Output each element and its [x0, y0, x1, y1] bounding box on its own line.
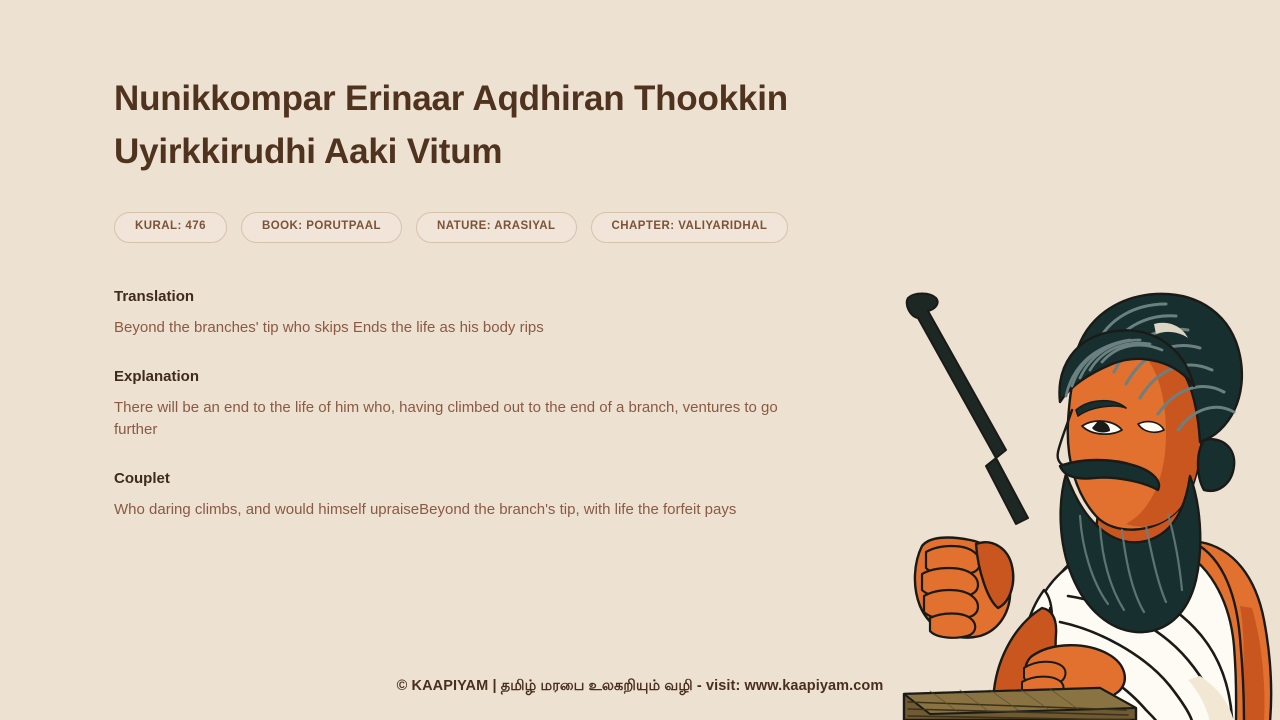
couplet-heading: Couplet	[114, 471, 874, 486]
section-explanation: Explanation There will be an end to the …	[114, 369, 874, 441]
ear	[1184, 419, 1209, 470]
kural-content: Nunikkompar Erinaar Aqdhiran Thookkin Uy…	[114, 72, 874, 522]
footer-credit: © KAAPIYAM | தமிழ் மரபை உலகறியும் வழி - …	[0, 678, 1280, 696]
badge-chapter[interactable]: CHAPTER: VALIYARIDHAL	[591, 212, 789, 243]
hair-front	[1059, 330, 1194, 402]
hair-bun	[1076, 294, 1242, 442]
section-couplet: Couplet Who daring climbs, and would him…	[114, 471, 874, 521]
thumb	[976, 542, 1013, 608]
badge-kural[interactable]: KURAL: 476	[114, 212, 227, 243]
translation-text: Beyond the branches' tip who skips Ends …	[114, 317, 824, 339]
section-translation: Translation Beyond the branches' tip who…	[114, 289, 874, 339]
explanation-text: There will be an end to the life of him …	[114, 397, 824, 441]
face	[1068, 350, 1200, 530]
hair-knot	[1198, 439, 1234, 491]
metadata-badge-row: KURAL: 476 BOOK: PORUTPAAL NATURE: ARASI…	[114, 212, 874, 243]
badge-nature[interactable]: NATURE: ARASIYAL	[416, 212, 577, 243]
moustache	[1060, 460, 1159, 490]
neck	[1096, 468, 1180, 564]
page-title: Nunikkompar Erinaar Aqdhiran Thookkin Uy…	[114, 72, 834, 178]
explanation-heading: Explanation	[114, 369, 874, 384]
eye	[1082, 421, 1122, 434]
badge-book[interactable]: BOOK: PORUTPAAL	[241, 212, 402, 243]
kural-card-page: Nunikkompar Erinaar Aqdhiran Thookkin Uy…	[0, 0, 1280, 720]
stylus	[907, 294, 1028, 525]
beard	[1061, 474, 1201, 632]
writing-hand	[915, 538, 1010, 638]
eyebrow	[1076, 401, 1126, 416]
couplet-text: Who daring climbs, and would himself upr…	[114, 499, 824, 521]
left-arm	[993, 608, 1068, 720]
dhoti-left-drape	[1022, 590, 1074, 720]
translation-heading: Translation	[114, 289, 874, 304]
thiruvalluvar-illustration	[900, 290, 1280, 720]
